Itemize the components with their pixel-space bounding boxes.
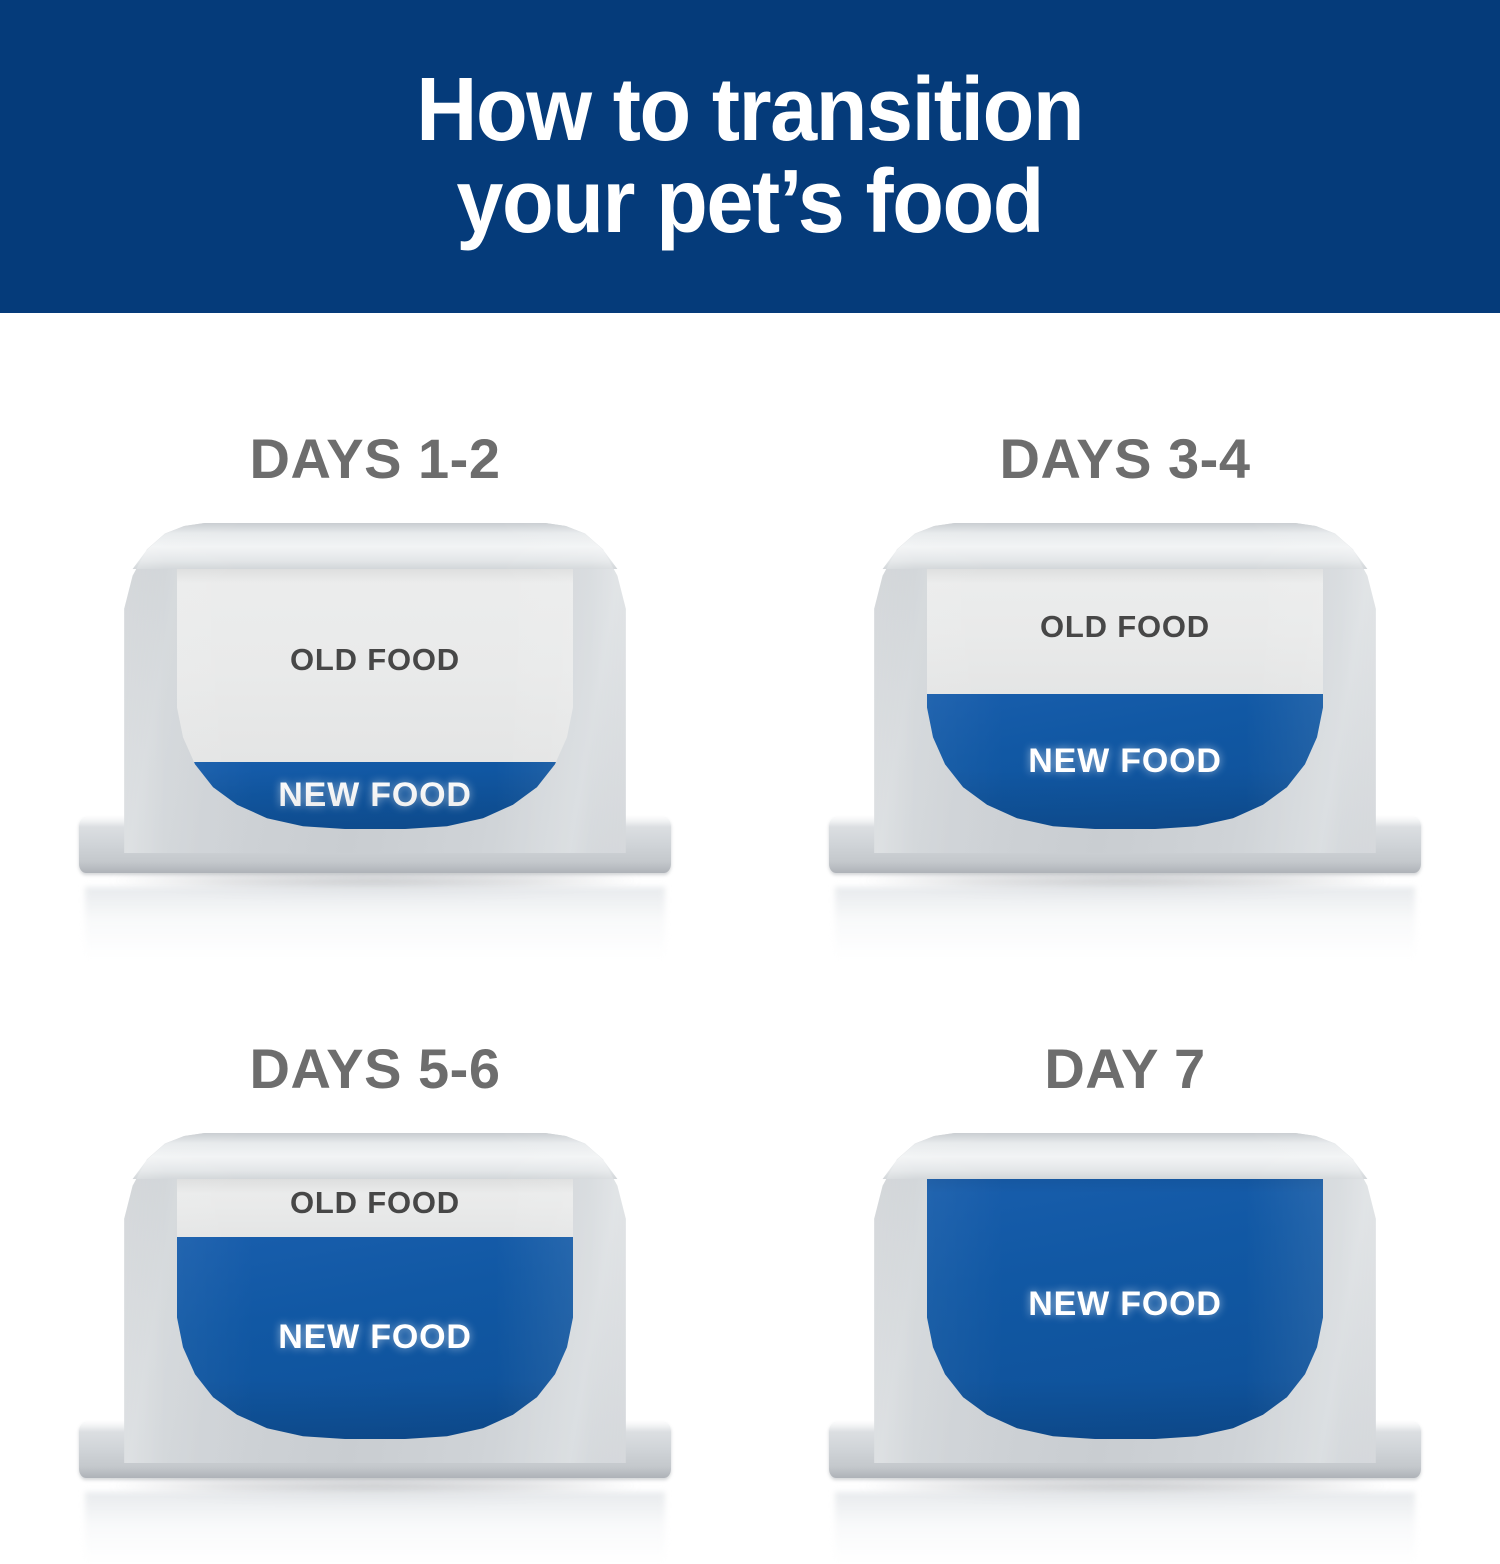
transition-steps-grid: DAYS 1-2 OLD FOOD NEW FOOD DAYS 3-4 xyxy=(0,313,1500,1500)
new-food-label: NEW FOOD xyxy=(1028,742,1221,781)
new-food-label: NEW FOOD xyxy=(278,776,471,815)
bowl-top-rim xyxy=(825,1133,1425,1179)
step-title-days-1-2: DAYS 1-2 xyxy=(250,431,501,487)
bowl-floor-reflection xyxy=(85,1492,665,1564)
old-food-label: OLD FOOD xyxy=(290,642,460,678)
new-food-label: NEW FOOD xyxy=(1028,1285,1221,1324)
pet-bowl-days-1-2: OLD FOOD NEW FOOD xyxy=(75,523,675,895)
step-days-5-6: DAYS 5-6 OLD FOOD NEW FOOD xyxy=(0,906,750,1500)
bowl-top-rim xyxy=(75,1133,675,1179)
step-title-day-7: DAY 7 xyxy=(1044,1041,1205,1097)
bowl-floor-reflection xyxy=(835,1492,1415,1564)
bowl-top-rim xyxy=(825,523,1425,569)
pet-bowl-day-7: OLD FOOD NEW FOOD xyxy=(825,1133,1425,1500)
old-food-label: OLD FOOD xyxy=(290,1185,460,1221)
step-day-7: DAY 7 OLD FOOD NEW FOOD xyxy=(750,906,1500,1500)
step-title-days-3-4: DAYS 3-4 xyxy=(1000,431,1251,487)
pet-bowl-days-5-6: OLD FOOD NEW FOOD xyxy=(75,1133,675,1500)
old-food-label: OLD FOOD xyxy=(1040,609,1210,645)
pet-bowl-days-3-4: OLD FOOD NEW FOOD xyxy=(825,523,1425,895)
page-header: How to transition your pet’s food xyxy=(0,0,1500,313)
step-title-days-5-6: DAYS 5-6 xyxy=(250,1041,501,1097)
step-days-3-4: DAYS 3-4 OLD FOOD NEW FOOD xyxy=(750,313,1500,906)
new-food-label: NEW FOOD xyxy=(278,1318,471,1357)
page-title: How to transition your pet’s food xyxy=(379,65,1121,249)
bowl-top-rim xyxy=(75,523,675,569)
step-days-1-2: DAYS 1-2 OLD FOOD NEW FOOD xyxy=(0,313,750,906)
